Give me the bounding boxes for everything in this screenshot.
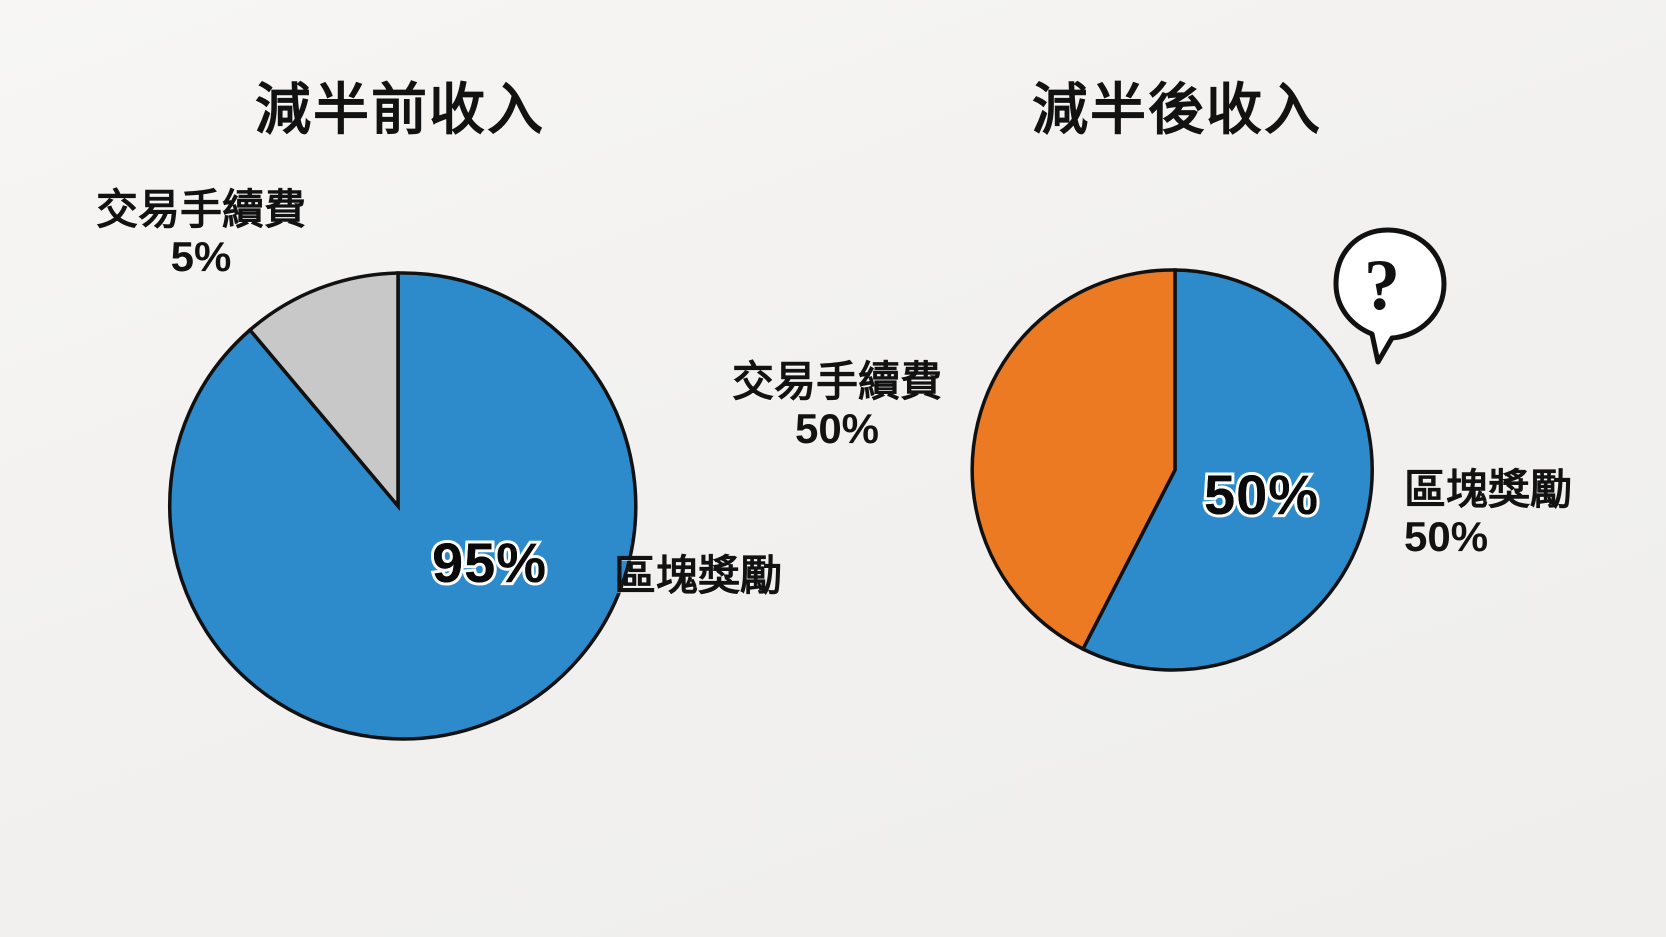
- left-reward-callout: 區塊獎勵: [614, 552, 782, 599]
- left-reward-label: 區塊獎勵: [614, 552, 782, 599]
- left-slice-block-reward: [170, 273, 636, 739]
- right-fee-label: 交易手續費: [732, 358, 942, 405]
- right-reward-label: 區塊獎勵: [1404, 466, 1572, 513]
- right-fee-percent: 50%: [732, 405, 942, 452]
- right-chart-title: 減半後收入: [1032, 82, 1322, 138]
- left-fee-label: 交易手續費: [96, 186, 306, 233]
- left-fee-percent: 5%: [96, 233, 306, 280]
- right-reward-percent: 50%: [1404, 513, 1572, 560]
- right-blue-slice-value: 50%: [1204, 462, 1319, 527]
- right-reward-callout: 區塊獎勵 50%: [1404, 466, 1572, 560]
- left-fee-callout: 交易手續費 5%: [96, 186, 306, 280]
- question-mark-label: ?: [1364, 244, 1400, 327]
- question-speech-bubble: ?: [1326, 222, 1466, 372]
- left-pie-chart: [150, 258, 650, 758]
- left-pie-svg: [150, 258, 650, 758]
- left-blue-slice-value: 95%: [432, 530, 547, 595]
- infographic-canvas: 減半前收入 交易手續費 5% 區塊獎勵 95% 減半後收入 交易手續費 50% …: [0, 0, 1666, 937]
- right-fee-callout: 交易手續費 50%: [732, 358, 942, 452]
- left-chart-title: 減半前收入: [255, 82, 545, 138]
